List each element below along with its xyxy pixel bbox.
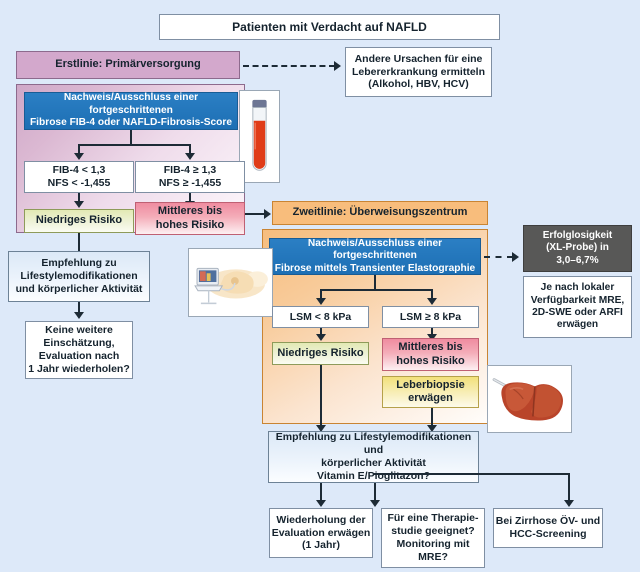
lifestyle-recommendation-box: Empfehlung zu Lifestylemodifikationen un…	[8, 251, 150, 302]
first-line-assessment-box: Nachweis/Ausschluss einer fortgeschritte…	[24, 92, 238, 130]
connector-v-second-split	[374, 275, 376, 290]
connector-h-second-split	[320, 289, 432, 291]
first-line-low-risk-box: Niedriges Risiko	[24, 209, 134, 233]
arrow-lsm-low	[316, 334, 326, 341]
arrow-bottom-mid	[370, 500, 380, 507]
connector-h-bottom-right	[374, 473, 570, 475]
arrow-second-left	[316, 298, 326, 305]
liver-biopsy-icon	[488, 366, 571, 432]
second-line-assessment-box: Nachweis/Ausschluss einer fortgeschritte…	[269, 238, 481, 275]
alternative-methods-box: Je nach lokaler Verfügbarkeit MRE, 2D-SW…	[523, 276, 632, 338]
cirrhosis-screening-box: Bei Zirrhose ÖV- und HCC-Screening	[493, 508, 603, 548]
arrow-failure-rate	[512, 252, 519, 262]
blood-tube-image	[239, 90, 280, 183]
arrow-to-second-line	[264, 209, 271, 219]
other-causes-box: Andere Ursachen für eine Lebererkrankung…	[345, 47, 492, 97]
second-line-header: Zweitlinie: Überweisungszentrum	[272, 201, 488, 225]
arrow-second-right	[427, 298, 437, 305]
liver-image	[487, 365, 572, 433]
arrow-bottom-left	[316, 500, 326, 507]
arrow-fib4-low	[74, 201, 84, 208]
blood-tube-icon	[240, 91, 279, 182]
arrow-first-left	[74, 153, 84, 160]
arrow-bottom-right	[564, 500, 574, 507]
connector-v-first-split	[130, 130, 132, 145]
fib4-high-box: FIB-4 ≥ 1,3 NFS ≥ -1,455	[135, 161, 245, 193]
dashed-connector-failure-rate	[484, 256, 513, 258]
flowchart-diagram: Patienten mit Verdacht auf NAFLD Erstlin…	[0, 0, 640, 572]
connector-v-bottom-right	[568, 473, 570, 502]
title-box: Patienten mit Verdacht auf NAFLD	[159, 14, 500, 40]
arrow-lifestyle	[74, 312, 84, 319]
second-line-low-risk-box: Niedriges Risiko	[272, 342, 369, 365]
arrow-first-right	[185, 153, 195, 160]
failure-rate-box: Erfolglosigkeit (XL-Probe) in 3,0–6,7%	[523, 225, 632, 272]
connector-h-to-second-line	[245, 213, 265, 215]
therapy-study-box: Für eine Therapie- studie geeignet? Moni…	[381, 508, 485, 568]
first-line-header: Erstlinie: Primärversorgung	[16, 51, 240, 79]
no-further-assessment-box: Keine weitere Einschätzung, Evaluation n…	[25, 321, 133, 379]
first-line-high-risk-box: Mittleres bis hohes Risiko	[135, 202, 245, 235]
connector-h-first-split	[78, 144, 190, 146]
connector-v-second-lowrisk	[320, 365, 322, 427]
fibroscan-elastography-icon	[189, 249, 272, 316]
second-line-header-label: Zweitlinie: Überweisungszentrum	[273, 202, 487, 224]
lifestyle-vitamin-box: Empfehlung zu Lifestylemodifikationen un…	[268, 431, 479, 483]
connector-v-lowrisk-left	[78, 233, 80, 251]
arrow-other-causes	[334, 61, 341, 71]
lsm-low-box: LSM < 8 kPa	[272, 306, 369, 328]
repeat-evaluation-box: Wiederholung der Evaluation erwägen (1 J…	[269, 508, 373, 558]
lsm-high-box: LSM ≥ 8 kPa	[382, 306, 479, 328]
fibroscan-image	[188, 248, 273, 317]
dashed-connector-other-causes	[243, 65, 335, 67]
liver-biopsy-box: Leberbiopsie erwägen	[382, 376, 479, 408]
second-line-high-risk-box: Mittleres bis hohes Risiko	[382, 338, 479, 371]
first-line-header-label: Erstlinie: Primärversorgung	[17, 52, 239, 78]
fib4-low-box: FIB-4 < 1,3 NFS < -1,455	[24, 161, 134, 193]
